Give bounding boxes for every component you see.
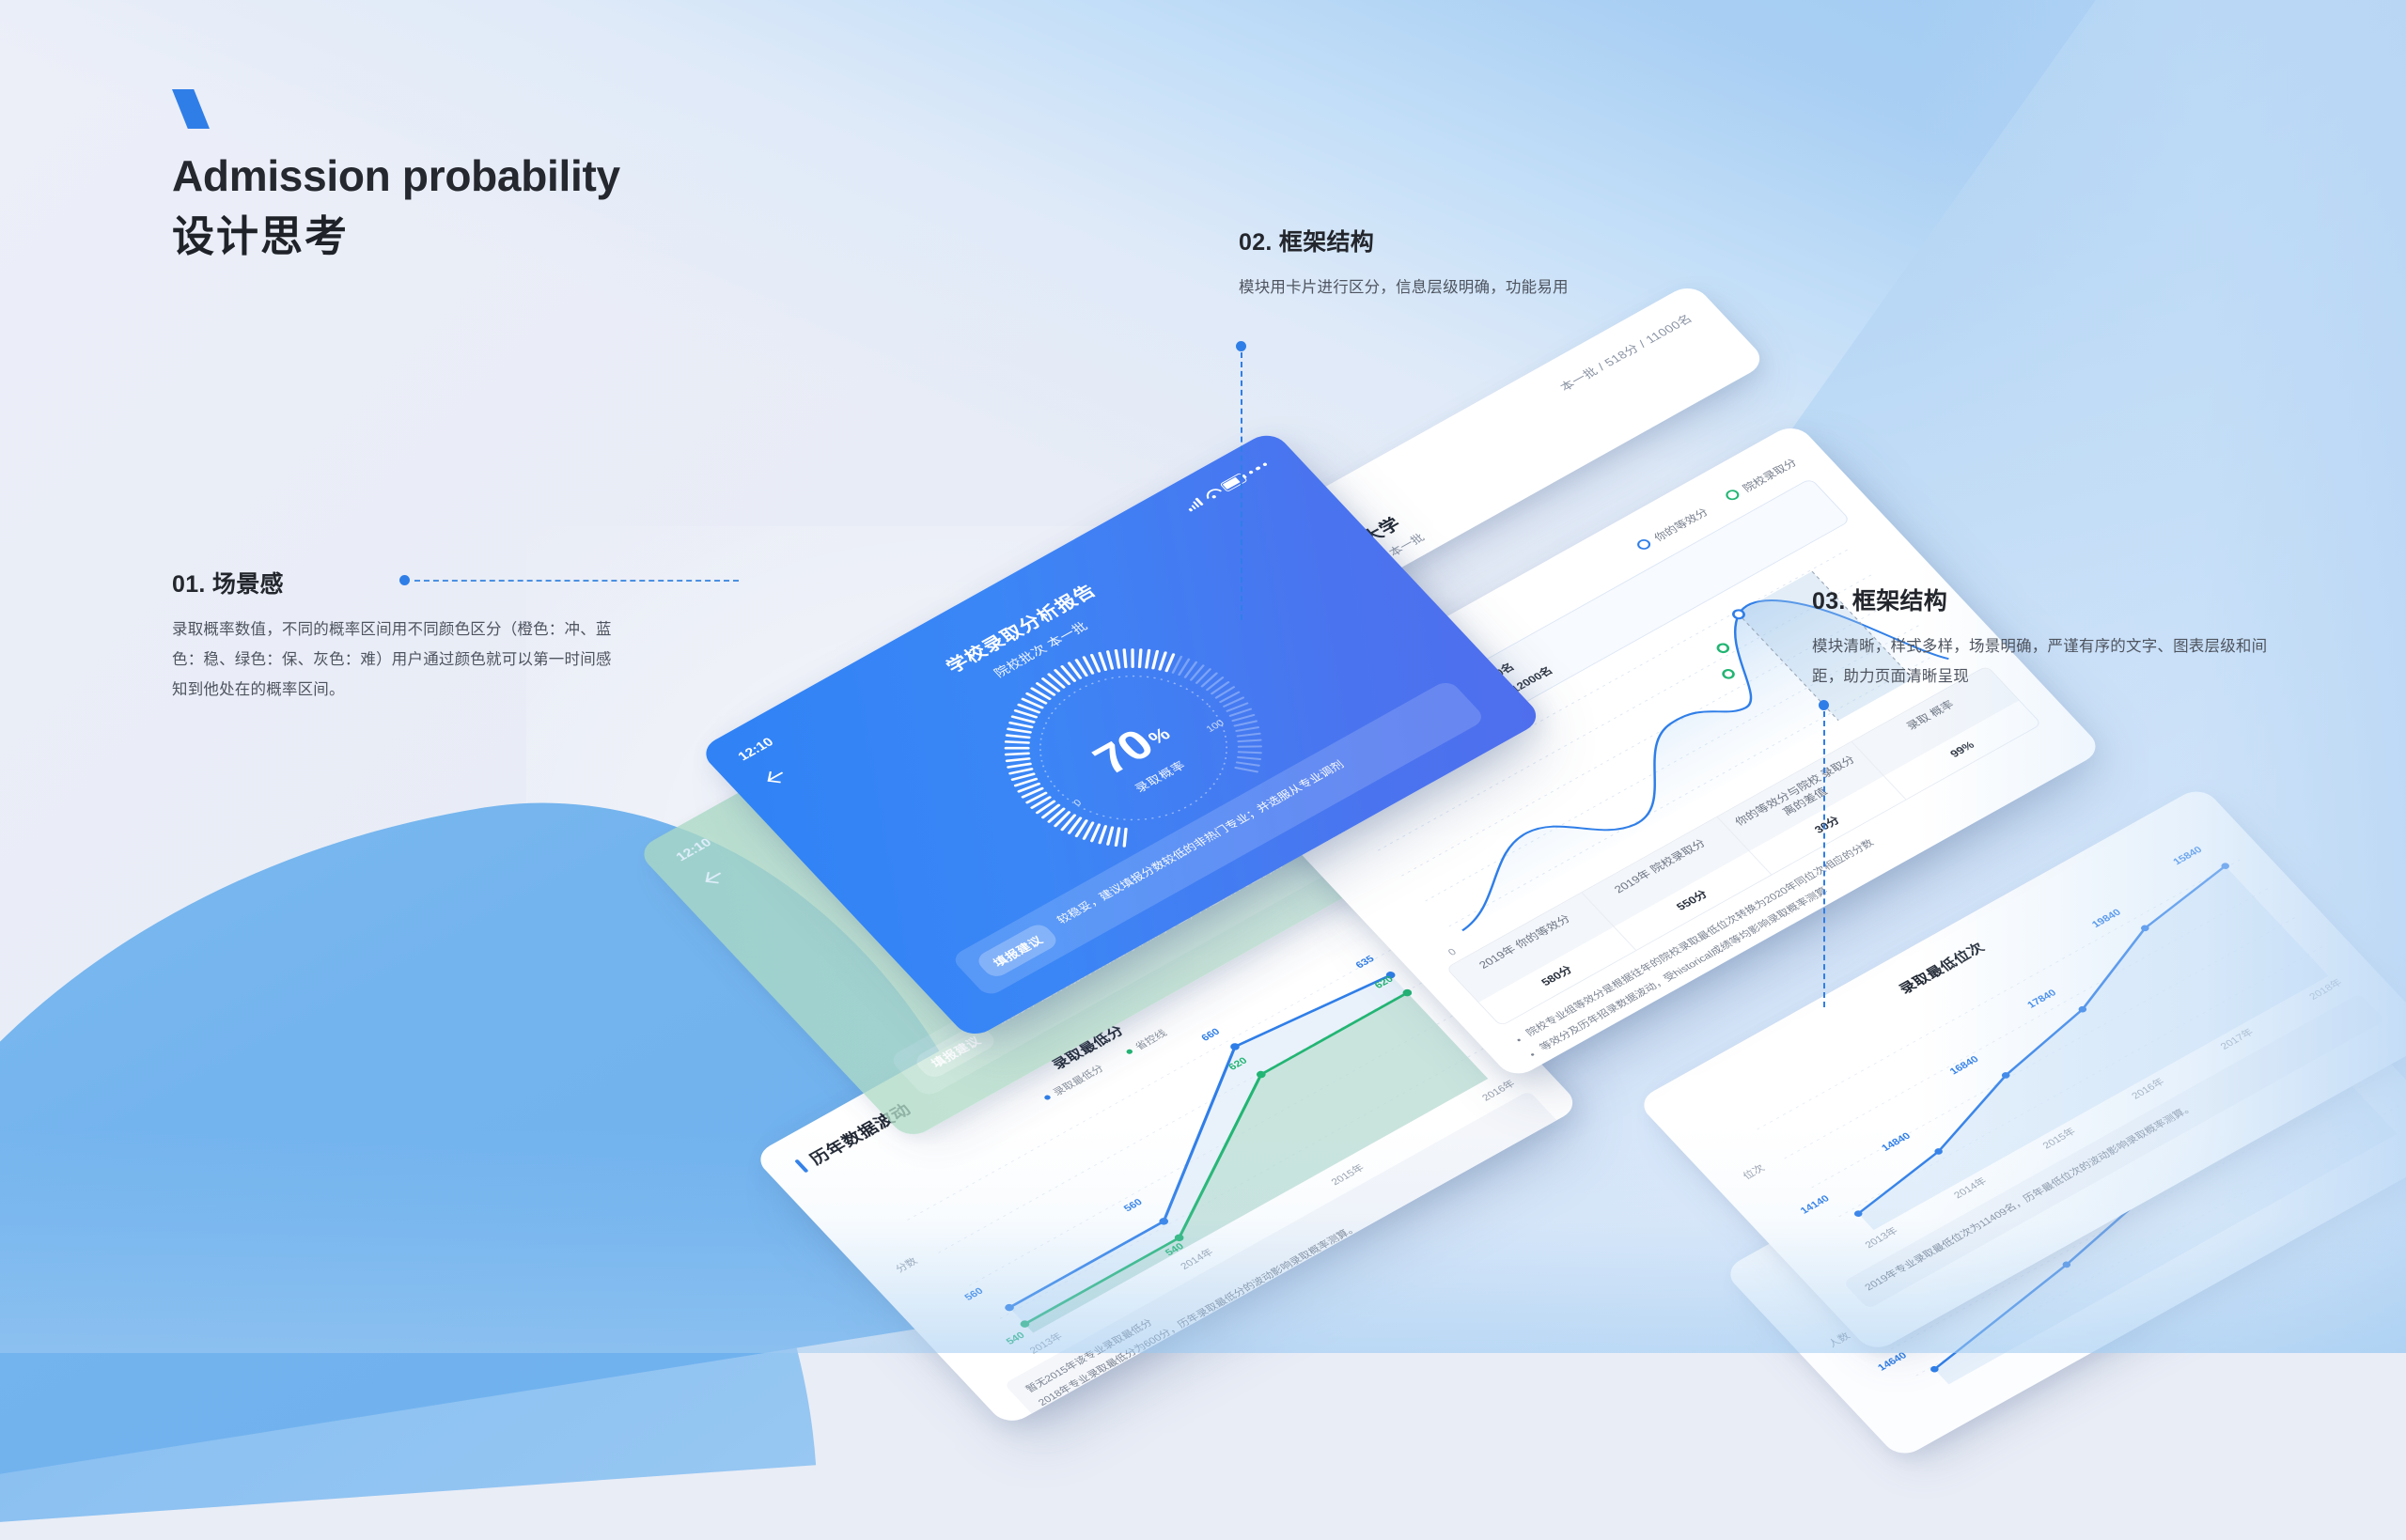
annotation-03-number: 03. 框架结构 <box>1812 583 2291 616</box>
accent-slash-icon <box>172 89 210 129</box>
advice-button[interactable]: 填报建议 <box>974 921 1061 980</box>
headline-english: Admission probability <box>172 149 620 202</box>
history-legend-label-1: 省控线 <box>1132 1027 1169 1053</box>
annotation-03-description: 模块清晰，样式多样，场景明确，严谨有序的文字、图表层级和间距，助力页面清晰呈现 <box>1812 631 2291 692</box>
legend-dot-blue <box>1043 1095 1052 1101</box>
signal-icon <box>1184 497 1203 511</box>
connector-03-dot <box>1819 700 1829 710</box>
rank-value-label: 14140 <box>1799 1194 1832 1217</box>
page-headline: Admission probability 设计思考 <box>172 89 620 265</box>
annotation-01-description: 录取概率数值，不同的概率区间用不同颜色区分（橙色：冲、蓝色：稳、绿色：保、灰色：… <box>172 614 614 706</box>
legend-marker-green <box>1724 488 1742 502</box>
wifi-icon <box>1203 488 1221 501</box>
section-accent-bar <box>794 1159 808 1174</box>
distribution-zero-tick: 0 <box>1446 947 1459 957</box>
annotation-01: 01. 场景感 录取概率数值，不同的概率区间用不同颜色区分（橙色：冲、蓝色：稳、… <box>172 566 614 706</box>
connector-03-line <box>1823 711 1825 1007</box>
plan-ylabel: 人数 <box>1825 1330 1853 1350</box>
annotation-02: 02. 框架结构 模块用卡片进行区分，信息层级明确，功能易用 <box>1239 224 1765 303</box>
annotation-02-number: 02. 框架结构 <box>1239 224 1765 257</box>
history-ylabel: 分数 <box>892 1254 920 1275</box>
rank-ylabel: 位次 <box>1740 1161 1768 1182</box>
annotation-01-number: 01. 场景感 <box>172 566 614 599</box>
more-menu-icon[interactable] <box>1248 462 1269 475</box>
connector-02-dot <box>1236 341 1246 351</box>
legend-dot-green <box>1125 1049 1133 1055</box>
annotation-02-description: 模块用卡片进行区分，信息层级明确，功能易用 <box>1239 272 1765 303</box>
headline-chinese: 设计思考 <box>172 210 620 265</box>
annotation-03: 03. 框架结构 模块清晰，样式多样，场景明确，严谨有序的文字、图表层级和间距，… <box>1812 583 2291 692</box>
legend-marker-blue <box>1634 537 1653 552</box>
connector-02-line <box>1241 352 1242 620</box>
